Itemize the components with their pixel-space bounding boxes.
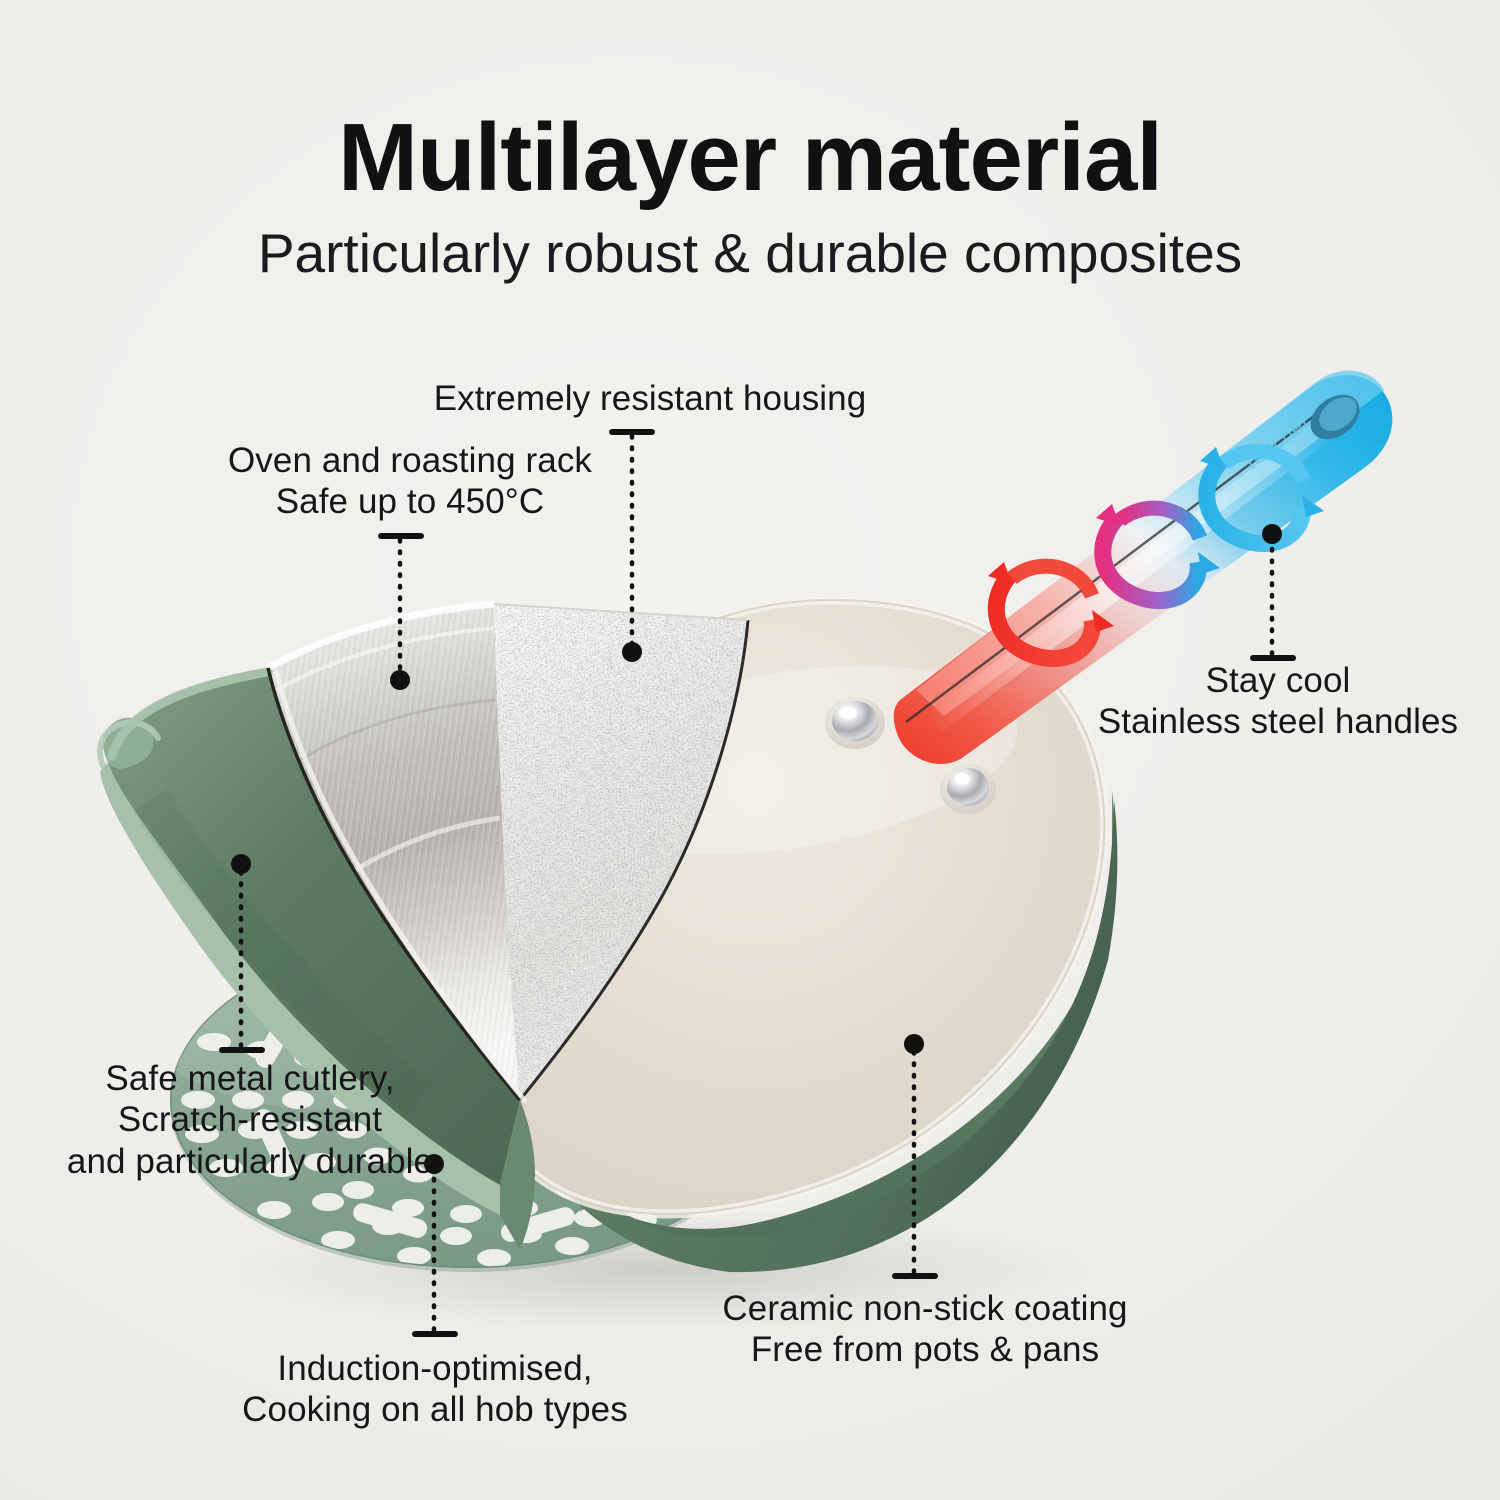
callout-safe-metal-cutlery: Safe metal cutlery, Scratch-resistant an…: [20, 1058, 480, 1182]
callout-induction-optimised: Induction-optimised, Cooking on all hob …: [185, 1348, 685, 1431]
product-illustration: REDCHEF: [0, 0, 1500, 1500]
callout-oven-and-roasting-rack: Oven and roasting rack Safe up to 450°C: [190, 440, 630, 523]
infographic-page: Multilayer material Particularly robust …: [0, 0, 1500, 1500]
callout-stay-cool-handles: Stay cool Stainless steel handles: [1078, 660, 1478, 743]
rivet-upper: [825, 697, 885, 749]
callout-extremely-resistant-housing: Extremely resistant housing: [400, 378, 900, 419]
callout-ceramic-non-stick: Ceramic non-stick coating Free from pots…: [665, 1288, 1185, 1371]
rivet-lower: [940, 764, 996, 814]
